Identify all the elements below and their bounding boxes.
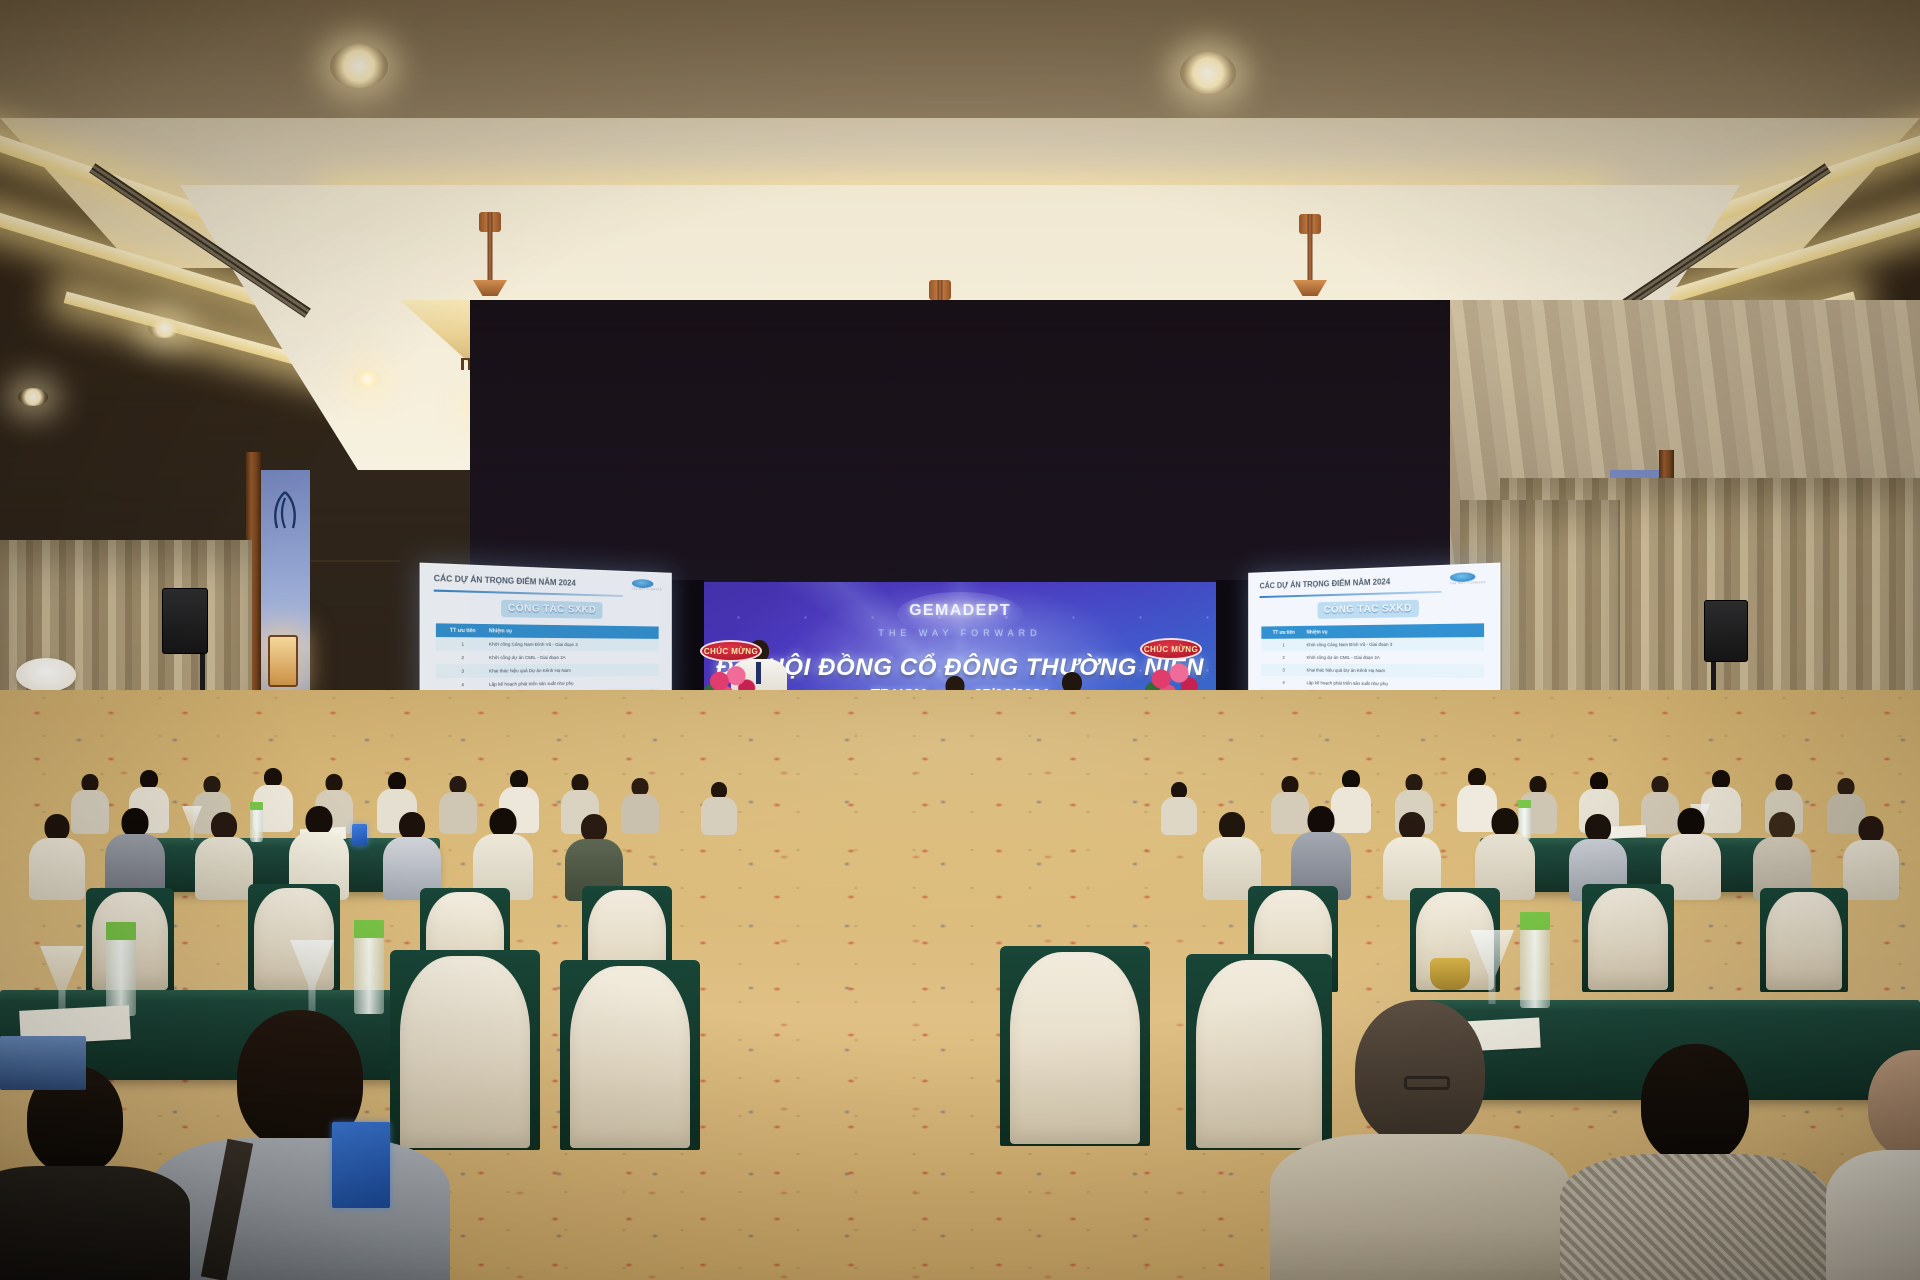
slide-title-left: CÁC DỰ ÁN TRỌNG ĐIỂM NĂM 2024 — [434, 573, 576, 587]
congratulation-sign-left: CHÚC MỪNG — [700, 640, 762, 662]
bottle-cap — [106, 922, 136, 940]
row-task: Lập kế hoạch phát triển sản xuất như phụ — [489, 680, 659, 687]
row-task: Khởi công dự án CMIL - Giai đoạn 2A — [489, 655, 659, 660]
bottle-cap — [354, 920, 384, 938]
congratulation-label: CHÚC MỪNG — [704, 647, 758, 656]
col-task: Nhiệm vụ — [1307, 627, 1485, 635]
row-task: Khởi công Cảng Nam Đình Vũ - Giai đoạn 3 — [489, 642, 659, 648]
chair-cover — [1766, 892, 1842, 990]
slide-rule-right — [1260, 591, 1442, 598]
wall-sconce-left — [268, 635, 298, 687]
foreground-attendee-right — [1270, 1000, 1570, 1280]
congratulation-sign-right: CHÚC MỪNG — [1140, 638, 1202, 660]
smartphone — [332, 1122, 390, 1208]
row-no: 1 — [436, 641, 489, 646]
row-task: Khai thác hiệu quả Dự án Kênh Hạ Nam — [489, 667, 659, 673]
row-no: 3 — [436, 668, 489, 674]
attendee-head — [1641, 1044, 1749, 1164]
attendee-torso — [150, 1138, 450, 1280]
attendee-torso — [1560, 1154, 1830, 1280]
teapot — [1430, 958, 1470, 990]
water-bottle — [354, 934, 384, 1014]
chandelier-rod — [488, 212, 493, 282]
downlight-2 — [1180, 52, 1236, 94]
row-no: 1 — [1261, 642, 1306, 647]
head — [1399, 812, 1425, 840]
water-bottle — [106, 936, 136, 1016]
head — [211, 812, 237, 840]
head — [122, 808, 149, 837]
head — [1585, 814, 1611, 842]
head — [490, 808, 517, 837]
chair — [1760, 888, 1848, 992]
downlight-1 — [330, 44, 388, 88]
foreground-attendee-far-right — [1560, 1044, 1830, 1280]
table-row: 1 Khởi công Cảng Nam Đình Vũ - Giai đoạn… — [436, 637, 659, 651]
chair-cover — [570, 966, 690, 1148]
chair — [248, 884, 340, 992]
head — [1492, 808, 1519, 837]
congratulation-label: CHÚC MỪNG — [1144, 645, 1198, 654]
head — [306, 806, 333, 835]
head — [1308, 806, 1335, 835]
chair — [1582, 884, 1674, 992]
row-task: Lập kế hoạch phát triển sản xuất như phụ — [1307, 680, 1485, 687]
laptop — [0, 1036, 86, 1090]
col-priority: TT ưu tiên — [436, 627, 489, 634]
row-task: Khởi công Cảng Nam Đình Vũ - Giai đoạn 3 — [1307, 641, 1485, 647]
row-no: 2 — [1261, 655, 1306, 660]
chair-cover — [1010, 952, 1140, 1144]
slide-section-label: CÔNG TÁC SXKD — [1324, 603, 1412, 616]
row-task: Khởi công dự án CMIL - Giai đoạn 2A — [1307, 655, 1485, 660]
speaker-right — [1704, 600, 1748, 662]
attendee-torso — [0, 1166, 190, 1280]
gemadept-tagline: THE WAY FORWARD — [878, 628, 1041, 638]
head — [581, 814, 607, 842]
bottle-cap — [1520, 912, 1550, 930]
slide-logo-left: THE WAY FORWARD — [631, 579, 662, 592]
wall-congratulation-sign — [16, 658, 76, 692]
eyeglasses-icon — [1404, 1076, 1450, 1090]
table-row: 1 Khởi công Cảng Nam Đình Vũ - Giai đoạn… — [1261, 637, 1484, 651]
foreground-attendee-seated — [1826, 1050, 1920, 1280]
chandelier-rod — [1308, 214, 1313, 282]
head — [1219, 812, 1245, 840]
col-priority: TT ưu tiên — [1261, 629, 1306, 635]
row-no: 4 — [436, 682, 489, 688]
slide-logo-tagline: THE WAY FORWARD — [1449, 581, 1486, 585]
chair-row-mid — [0, 880, 1920, 1000]
gemadept-wordmark: GEMADEPT — [909, 602, 1011, 620]
chair-cover — [254, 888, 334, 990]
foreground-attendee-far-left — [0, 1066, 190, 1280]
chair — [560, 960, 700, 1150]
slide-section-pill-right: CÔNG TÁC SXKD — [1317, 600, 1418, 619]
slide-title-right: CÁC DỰ ÁN TRỌNG ĐIỂM NĂM 2024 — [1260, 577, 1391, 590]
attendee-torso — [1270, 1134, 1570, 1280]
table-row: 2 Khởi công dự án CMIL - Giai đoạn 2A — [1261, 651, 1484, 665]
head — [1678, 808, 1705, 837]
foreground-attendee-left — [150, 1010, 450, 1280]
slide-section-pill-left: CÔNG TÁC SXKD — [501, 600, 602, 619]
row-no: 3 — [1261, 667, 1306, 672]
head — [1769, 812, 1795, 840]
head — [399, 812, 425, 840]
conference-hall-photo: GEMADEPT THE WAY FORWARD ĐẠI HỘI ĐỒNG CỔ… — [0, 0, 1920, 1280]
speaker-left — [162, 588, 208, 654]
slide-logo-right: THE WAY FORWARD — [1449, 572, 1486, 586]
head — [1859, 816, 1884, 843]
row-no: 2 — [436, 655, 489, 660]
head — [45, 814, 70, 841]
chair-cover — [1588, 888, 1668, 990]
row-no: 4 — [1261, 680, 1306, 685]
table-row: 2 Khởi công dự án CMIL - Giai đoạn 2A — [436, 651, 659, 665]
slide-rule-left — [434, 590, 623, 597]
attendee-torso — [1826, 1150, 1920, 1280]
col-task: Nhiệm vụ — [489, 628, 659, 636]
water-bottle — [1520, 926, 1550, 1008]
row-task: Khai thác hiệu quả Dự án Kênh Hạ Nam — [1307, 668, 1485, 674]
torso — [701, 797, 737, 835]
attendee-head — [1868, 1050, 1920, 1158]
attendee-head — [1355, 1000, 1485, 1146]
wall-decoration-left — [266, 488, 304, 532]
chair — [1000, 946, 1150, 1146]
slide-logo-tagline: THE WAY FORWARD — [631, 588, 662, 592]
chandelier-knot — [473, 280, 507, 296]
audience-member — [700, 782, 738, 832]
slide-section-label: CÔNG TÁC SXKD — [508, 603, 596, 616]
